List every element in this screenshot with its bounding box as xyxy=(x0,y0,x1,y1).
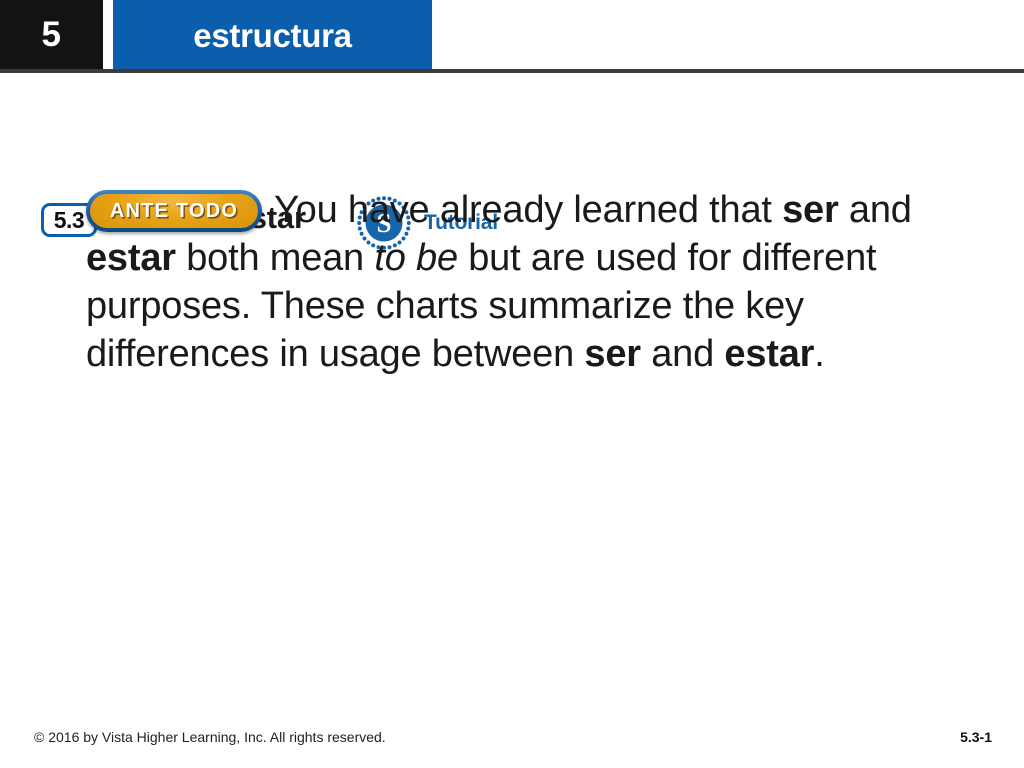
body-content: ANTE TODO You have already learned that … xyxy=(86,186,966,378)
paragraph-run-0: You have already learned that xyxy=(274,189,782,231)
page-number: 5.3-1 xyxy=(960,729,992,745)
ante-todo-badge-inner: ANTE TODO xyxy=(90,194,258,228)
paragraph-run-3: estar xyxy=(86,237,176,279)
paragraph-run-1: ser xyxy=(782,189,838,231)
ante-todo-badge: ANTE TODO xyxy=(86,190,262,232)
paragraph-run-9: estar xyxy=(724,333,814,375)
copyright-notice: © 2016 by Vista Higher Learning, Inc. Al… xyxy=(34,729,386,745)
paragraph-run-5: to be xyxy=(374,237,458,279)
paragraph-run-7: ser xyxy=(584,333,640,375)
paragraph-run-8: and xyxy=(641,333,725,375)
paragraph-run-10: . xyxy=(814,333,824,375)
ante-todo-label: ANTE TODO xyxy=(90,194,258,228)
chapter-number: 5 xyxy=(0,0,103,69)
header-divider xyxy=(0,69,1024,73)
paragraph-run-4: both mean xyxy=(176,237,375,279)
lesson-title-row: 5.3 Ser and estar xyxy=(0,98,1024,152)
slide-header: 5 estructura xyxy=(0,0,1024,69)
section-title: estructura xyxy=(113,0,432,69)
paragraph-run-2: and xyxy=(839,189,912,231)
